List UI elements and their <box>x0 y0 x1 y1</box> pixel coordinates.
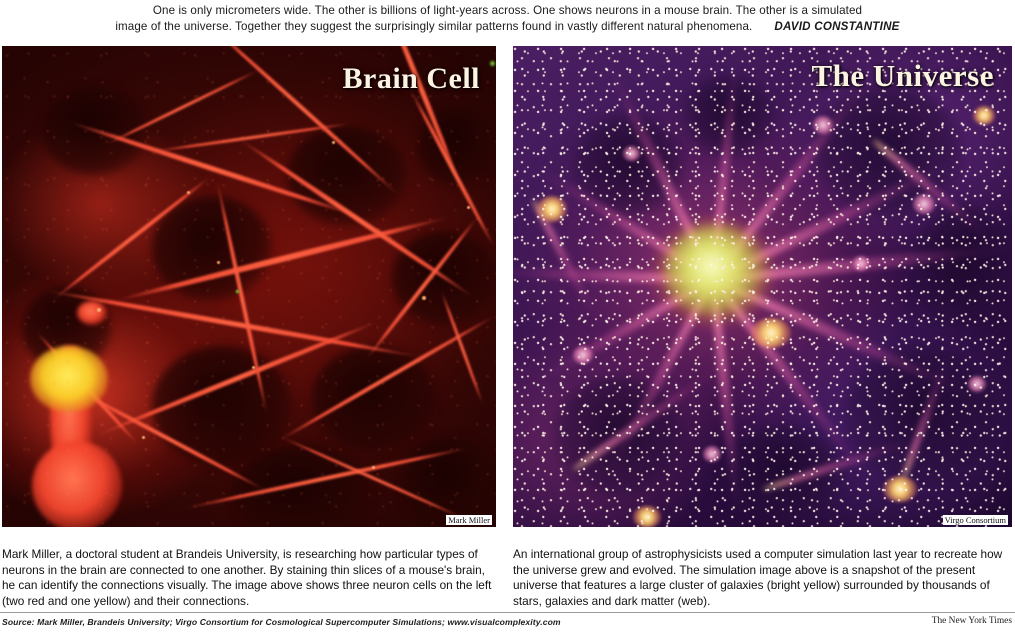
star-field <box>513 46 1012 527</box>
deck-line-2: image of the universe. Together they sug… <box>0 19 1015 35</box>
publisher-credit: The New York Times <box>932 616 1012 626</box>
footer-divider <box>0 612 1015 613</box>
infographic-page: One is only micrometers wide. The other … <box>0 0 1015 634</box>
micrograph-noise <box>2 46 496 527</box>
deck-line-1: One is only micrometers wide. The other … <box>0 3 1015 19</box>
universe-credit: Virgo Consortium <box>943 515 1008 525</box>
brain-cell-image-panel: Brain Cell Mark Miller <box>2 46 496 527</box>
header-deck: One is only micrometers wide. The other … <box>0 0 1015 40</box>
brain-cell-credit: Mark Miller <box>446 515 492 525</box>
source-line: Source: Mark Miller, Brandeis University… <box>2 617 561 627</box>
universe-title: The Universe <box>811 58 994 94</box>
brain-cell-title: Brain Cell <box>343 62 481 96</box>
universe-image-panel: The Universe Virgo Consortium <box>513 46 1012 527</box>
deck-line-2-text: image of the universe. Together they sug… <box>115 20 752 33</box>
brain-cell-caption: Mark Miller, a doctoral student at Brand… <box>2 547 496 609</box>
byline-author: DAVID CONSTANTINE <box>752 20 899 33</box>
universe-caption: An international group of astrophysicist… <box>513 547 1012 609</box>
